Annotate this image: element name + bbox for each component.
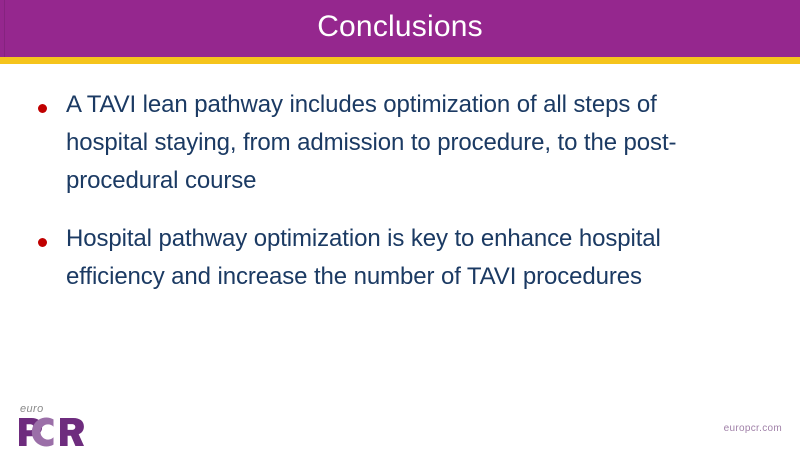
bullet-text: A TAVI lean pathway includes optimizatio… — [66, 86, 726, 200]
header-accent-rule — [0, 57, 800, 64]
logo-euro-text: euro — [20, 404, 44, 415]
bullet-text: Hospital pathway optimization is key to … — [66, 220, 746, 296]
list-item: Hospital pathway optimization is key to … — [0, 220, 800, 296]
bullet-list: A TAVI lean pathway includes optimizatio… — [0, 86, 800, 296]
slide-header-band: Conclusions — [0, 0, 800, 57]
europcr-logo: euro — [18, 404, 88, 448]
bullet-point-icon — [38, 238, 47, 247]
logo-pcr-mark — [18, 417, 84, 447]
page-title: Conclusions — [317, 12, 483, 45]
list-item: A TAVI lean pathway includes optimizatio… — [0, 86, 800, 200]
slide: Conclusions A TAVI lean pathway includes… — [0, 0, 800, 450]
bullet-point-icon — [38, 104, 47, 113]
header-edge-line — [4, 0, 5, 57]
website-url: europcr.com — [724, 424, 782, 434]
